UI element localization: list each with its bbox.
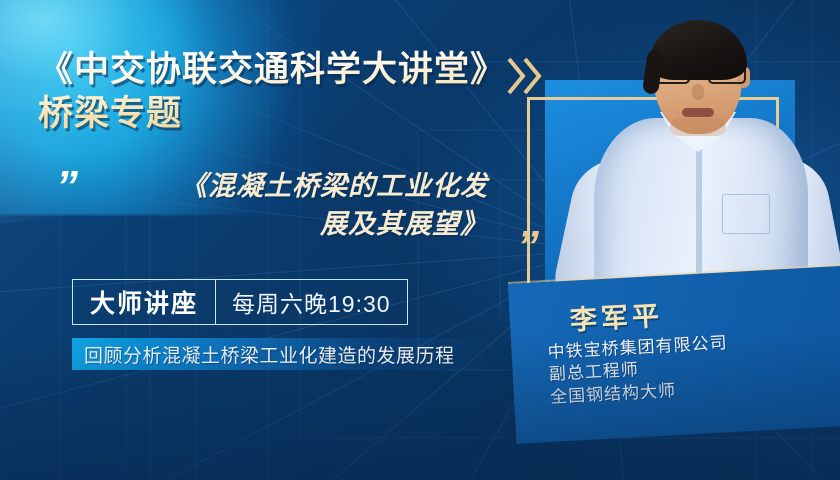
lecture-title-text: 《混凝土桥梁的工业化发 展及其展望》	[96, 167, 488, 244]
poster-title-line2: 桥梁专题	[38, 92, 508, 136]
bottom-vignette	[0, 330, 840, 480]
lecture-title-line1: 《混凝土桥梁的工业化发	[180, 171, 488, 201]
speaker-shirt-pocket	[722, 194, 770, 234]
poster-canvas: 《中交协联交通科学大讲堂》 桥梁专题 ” 《混凝土桥梁的工业化发 展及其展望》 …	[0, 0, 840, 480]
speaker-hair	[649, 20, 747, 80]
badge-schedule: 每周六晚19:30	[216, 280, 407, 324]
lecture-title-block: ” 《混凝土桥梁的工业化发 展及其展望》 ”	[52, 163, 532, 263]
badge-label: 大师讲座	[73, 280, 216, 324]
lecture-title-line2: 展及其展望》	[320, 209, 488, 239]
poster-title: 《中交协联交通科学大讲堂》 桥梁专题	[38, 48, 508, 136]
lecture-schedule-badge: 大师讲座 每周六晚19:30	[72, 279, 408, 325]
quote-open-mark: ”	[56, 165, 75, 209]
speaker-mouth	[682, 108, 714, 117]
quote-close-mark: ”	[517, 225, 536, 269]
speaker-nose	[692, 84, 704, 100]
chevron-decor-icon	[505, 55, 545, 97]
speaker-chin	[670, 118, 726, 136]
poster-title-line1: 《中交协联交通科学大讲堂》	[38, 50, 506, 89]
